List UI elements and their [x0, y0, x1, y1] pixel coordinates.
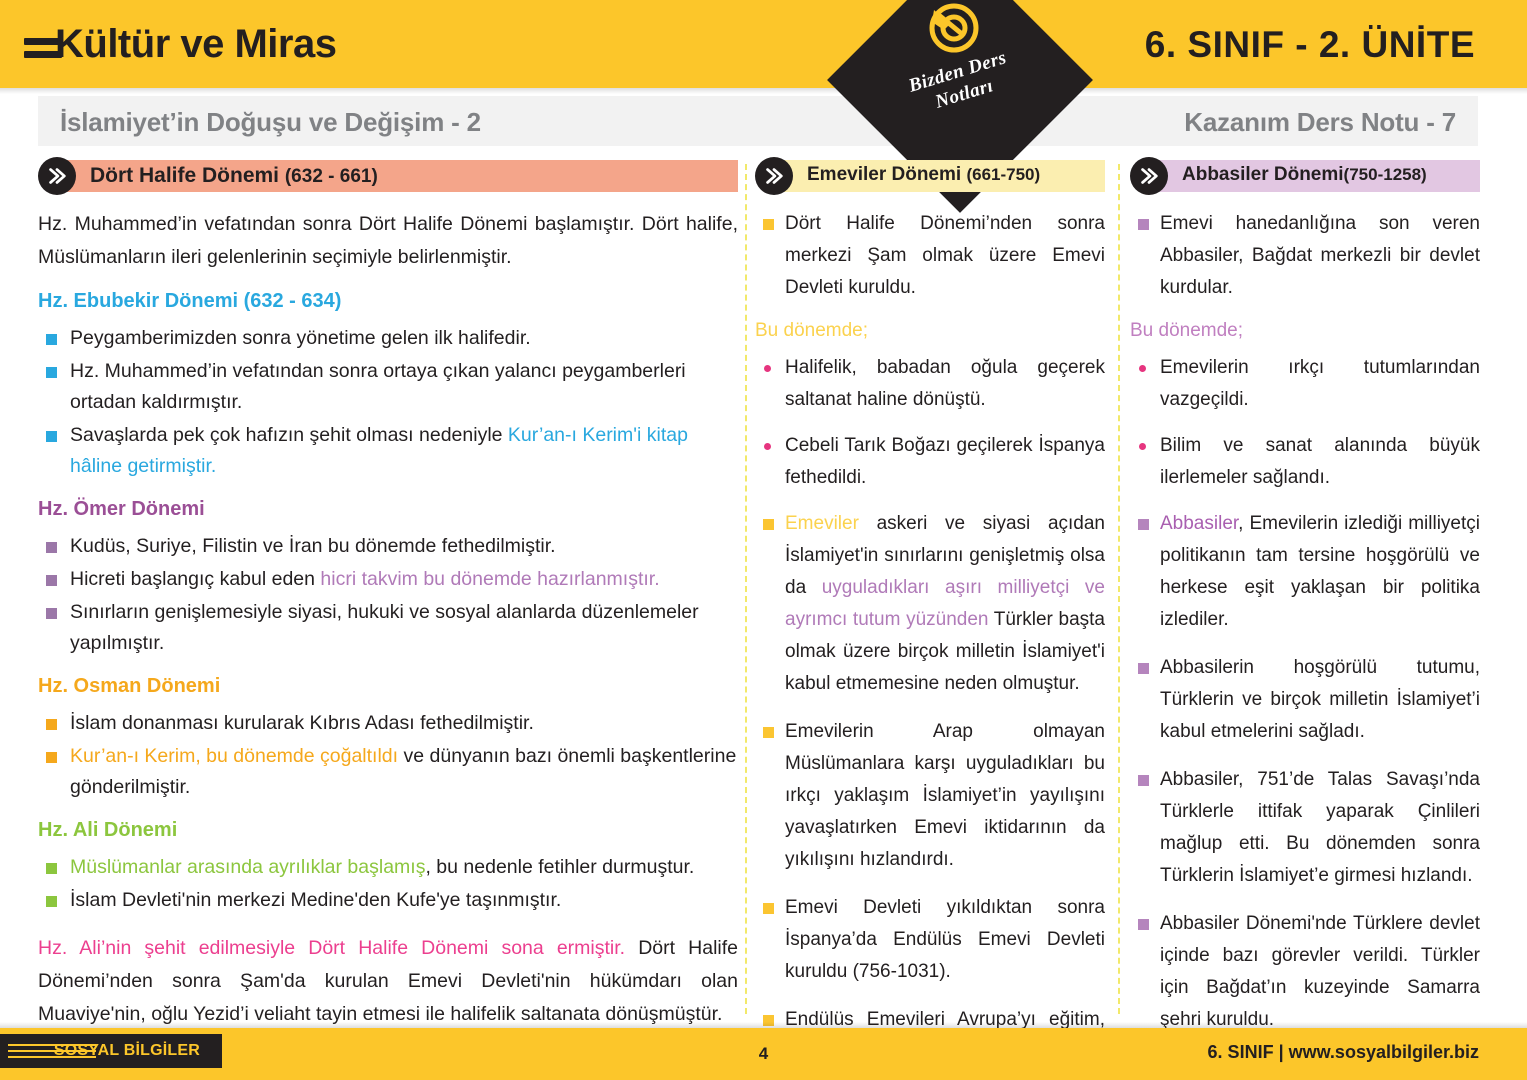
section-title-text: Dört Halife Dönemi [90, 164, 285, 187]
section-title-years: (661-750) [966, 165, 1040, 184]
list-item: Halifelik, babadan oğula geçerek saltana… [755, 352, 1105, 416]
list-item: Müslümanlar arasında ayrılıklar başlamış… [38, 852, 738, 883]
list-emeviler-main: Emeviler askeri ve siyasi açıdan İslamiy… [755, 508, 1105, 1068]
list-item: Bilim ve sanat alanında büyük ilerlemele… [1130, 430, 1480, 494]
double-chevron-icon [1130, 157, 1168, 195]
content-columns: Dört Halife Dönemi (632 - 661) Hz. Muham… [0, 160, 1527, 1020]
list-item: Kur’an-ı Kerim, bu dönemde çoğaltıldı ve… [38, 741, 738, 803]
list-item: İslam donanması kurularak Kıbrıs Adası f… [38, 708, 738, 739]
worksheet-page: Kültür ve Miras 6. SINIF - 2. ÜNİTE İsla… [0, 0, 1527, 1080]
column-divider-2 [1118, 164, 1120, 1014]
footer-website: 6. SINIF | www.sosyalbilgiler.biz [1208, 1042, 1479, 1063]
section-title-years: (632 - 661) [285, 166, 378, 187]
section-title: Abbasiler Dönemi(750-1258) [1182, 164, 1427, 186]
list-item: Emevi hanedanlığına son veren Abbasiler,… [1130, 208, 1480, 304]
cue-label-emeviler: Bu dönemde; [755, 320, 1105, 342]
list-item: Abbasilerin hoşgörülü tutumu, Türklerin … [1130, 652, 1480, 748]
subtitle-band: İslamiyet’in Doğuşu ve Değişim - 2 Kazan… [38, 96, 1478, 146]
subsection-title-ali: Hz. Ali Dönemi [38, 819, 738, 842]
list-abbasiler-top: Emevi hanedanlığına son veren Abbasiler,… [1130, 208, 1480, 304]
list-item: Abbasiler, Emevilerin izlediği milliyetç… [1130, 508, 1480, 636]
section-header-emeviler: Emeviler Dönemi (661-750) [755, 160, 1105, 194]
list-item: Emevi Devleti yıkıldıktan sonra İspanya’… [755, 892, 1105, 988]
subsection-title-osman: Hz. Osman Dönemi [38, 675, 738, 698]
double-chevron-icon [38, 157, 76, 195]
unit-title: 6. SINIF - 2. ÜNİTE [1145, 24, 1475, 66]
target-arrow-icon [926, 0, 982, 54]
list-item: Dört Halife Dönemi’nden sonra merkezi Şa… [755, 208, 1105, 304]
list-osman: İslam donanması kurularak Kıbrıs Adası f… [38, 708, 738, 803]
section-title: Dört Halife Dönemi (632 - 661) [90, 164, 378, 188]
list-item: Cebeli Tarık Boğazı geçilerek İspanya fe… [755, 430, 1105, 494]
page-title: Kültür ve Miras [55, 22, 336, 67]
subsection-title-omer: Hz. Ömer Dönemi [38, 498, 738, 521]
footer-bar: SOSYAL BİLGİLER 4 6. SINIF | www.sosyalb… [0, 1028, 1527, 1080]
column-abbasiler: Abbasiler Dönemi(750-1258) Emevi hanedan… [1130, 160, 1480, 1080]
subsection-title-ebubekir: Hz. Ebubekir Dönemi (632 - 634) [38, 290, 738, 313]
intro-paragraph: Hz. Muhammed’in vefatından sonra Dört Ha… [38, 208, 738, 274]
section-title-years: (750-1258) [1344, 165, 1427, 184]
list-item: Sınırların genişlemesiyle siyasi, hukuki… [38, 597, 738, 659]
column-dort-halife: Dört Halife Dönemi (632 - 661) Hz. Muham… [38, 160, 738, 1031]
double-chevron-icon [755, 157, 793, 195]
list-item: Emevilerin Arap olmayan Müslümanlara kar… [755, 716, 1105, 876]
section-title-text: Emeviler Dönemi [807, 164, 966, 185]
list-item: Abbasiler, 751’de Talas Savaşı’nda Türkl… [1130, 764, 1480, 892]
list-emeviler-top: Dört Halife Dönemi’nden sonra merkezi Şa… [755, 208, 1105, 304]
list-item: Hicreti başlangıç kabul eden hicri takvi… [38, 564, 738, 595]
cue-label-abbasiler: Bu dönemde; [1130, 320, 1480, 342]
list-item: Hz. Muhammed’in vefatından sonra ortaya … [38, 356, 738, 418]
list-item: Savaşlarda pek çok hafızın şehit olması … [38, 420, 738, 482]
lesson-subtitle: İslamiyet’in Doğuşu ve Değişim - 2 [60, 107, 481, 138]
list-ebubekir: Peygamberimizden sonra yönetime gelen il… [38, 323, 738, 482]
header-shadow [0, 88, 1527, 94]
list-emeviler-dots: Halifelik, babadan oğula geçerek saltana… [755, 352, 1105, 494]
column-divider-1 [745, 164, 747, 1014]
top-header-bar: Kültür ve Miras 6. SINIF - 2. ÜNİTE [0, 0, 1527, 88]
list-item: Emevilerin ırkçı tutumlarından vazgeçild… [1130, 352, 1480, 416]
section-title-text: Abbasiler Dönemi [1182, 164, 1344, 185]
list-item: Kudüs, Suriye, Filistin ve İran bu dönem… [38, 531, 738, 562]
list-abbasiler-dots: Emevilerin ırkçı tutumlarından vazgeçild… [1130, 352, 1480, 494]
list-item: İslam Devleti'nin merkezi Medine'den Kuf… [38, 885, 738, 916]
list-item: Peygamberimizden sonra yönetime gelen il… [38, 323, 738, 354]
lesson-note-label: Kazanım Ders Notu - 7 [1184, 107, 1456, 138]
section-header-abbasiler: Abbasiler Dönemi(750-1258) [1130, 160, 1480, 194]
column-emeviler: Emeviler Dönemi (661-750) Dört Halife Dö… [755, 160, 1105, 1080]
closing-paragraph: Hz. Ali’nin şehit edilmesiyle Dört Halif… [38, 932, 738, 1031]
list-item: Abbasiler Dönemi'nde Türklere devlet içi… [1130, 908, 1480, 1036]
list-omer: Kudüs, Suriye, Filistin ve İran bu dönem… [38, 531, 738, 659]
list-item: Emeviler askeri ve siyasi açıdan İslamiy… [755, 508, 1105, 700]
section-title: Emeviler Dönemi (661-750) [807, 164, 1040, 186]
list-ali: Müslümanlar arasında ayrılıklar başlamış… [38, 852, 738, 916]
list-abbasiler-main: Abbasiler, Emevilerin izlediği milliyetç… [1130, 508, 1480, 1080]
section-header-dort-halife: Dört Halife Dönemi (632 - 661) [38, 160, 738, 194]
